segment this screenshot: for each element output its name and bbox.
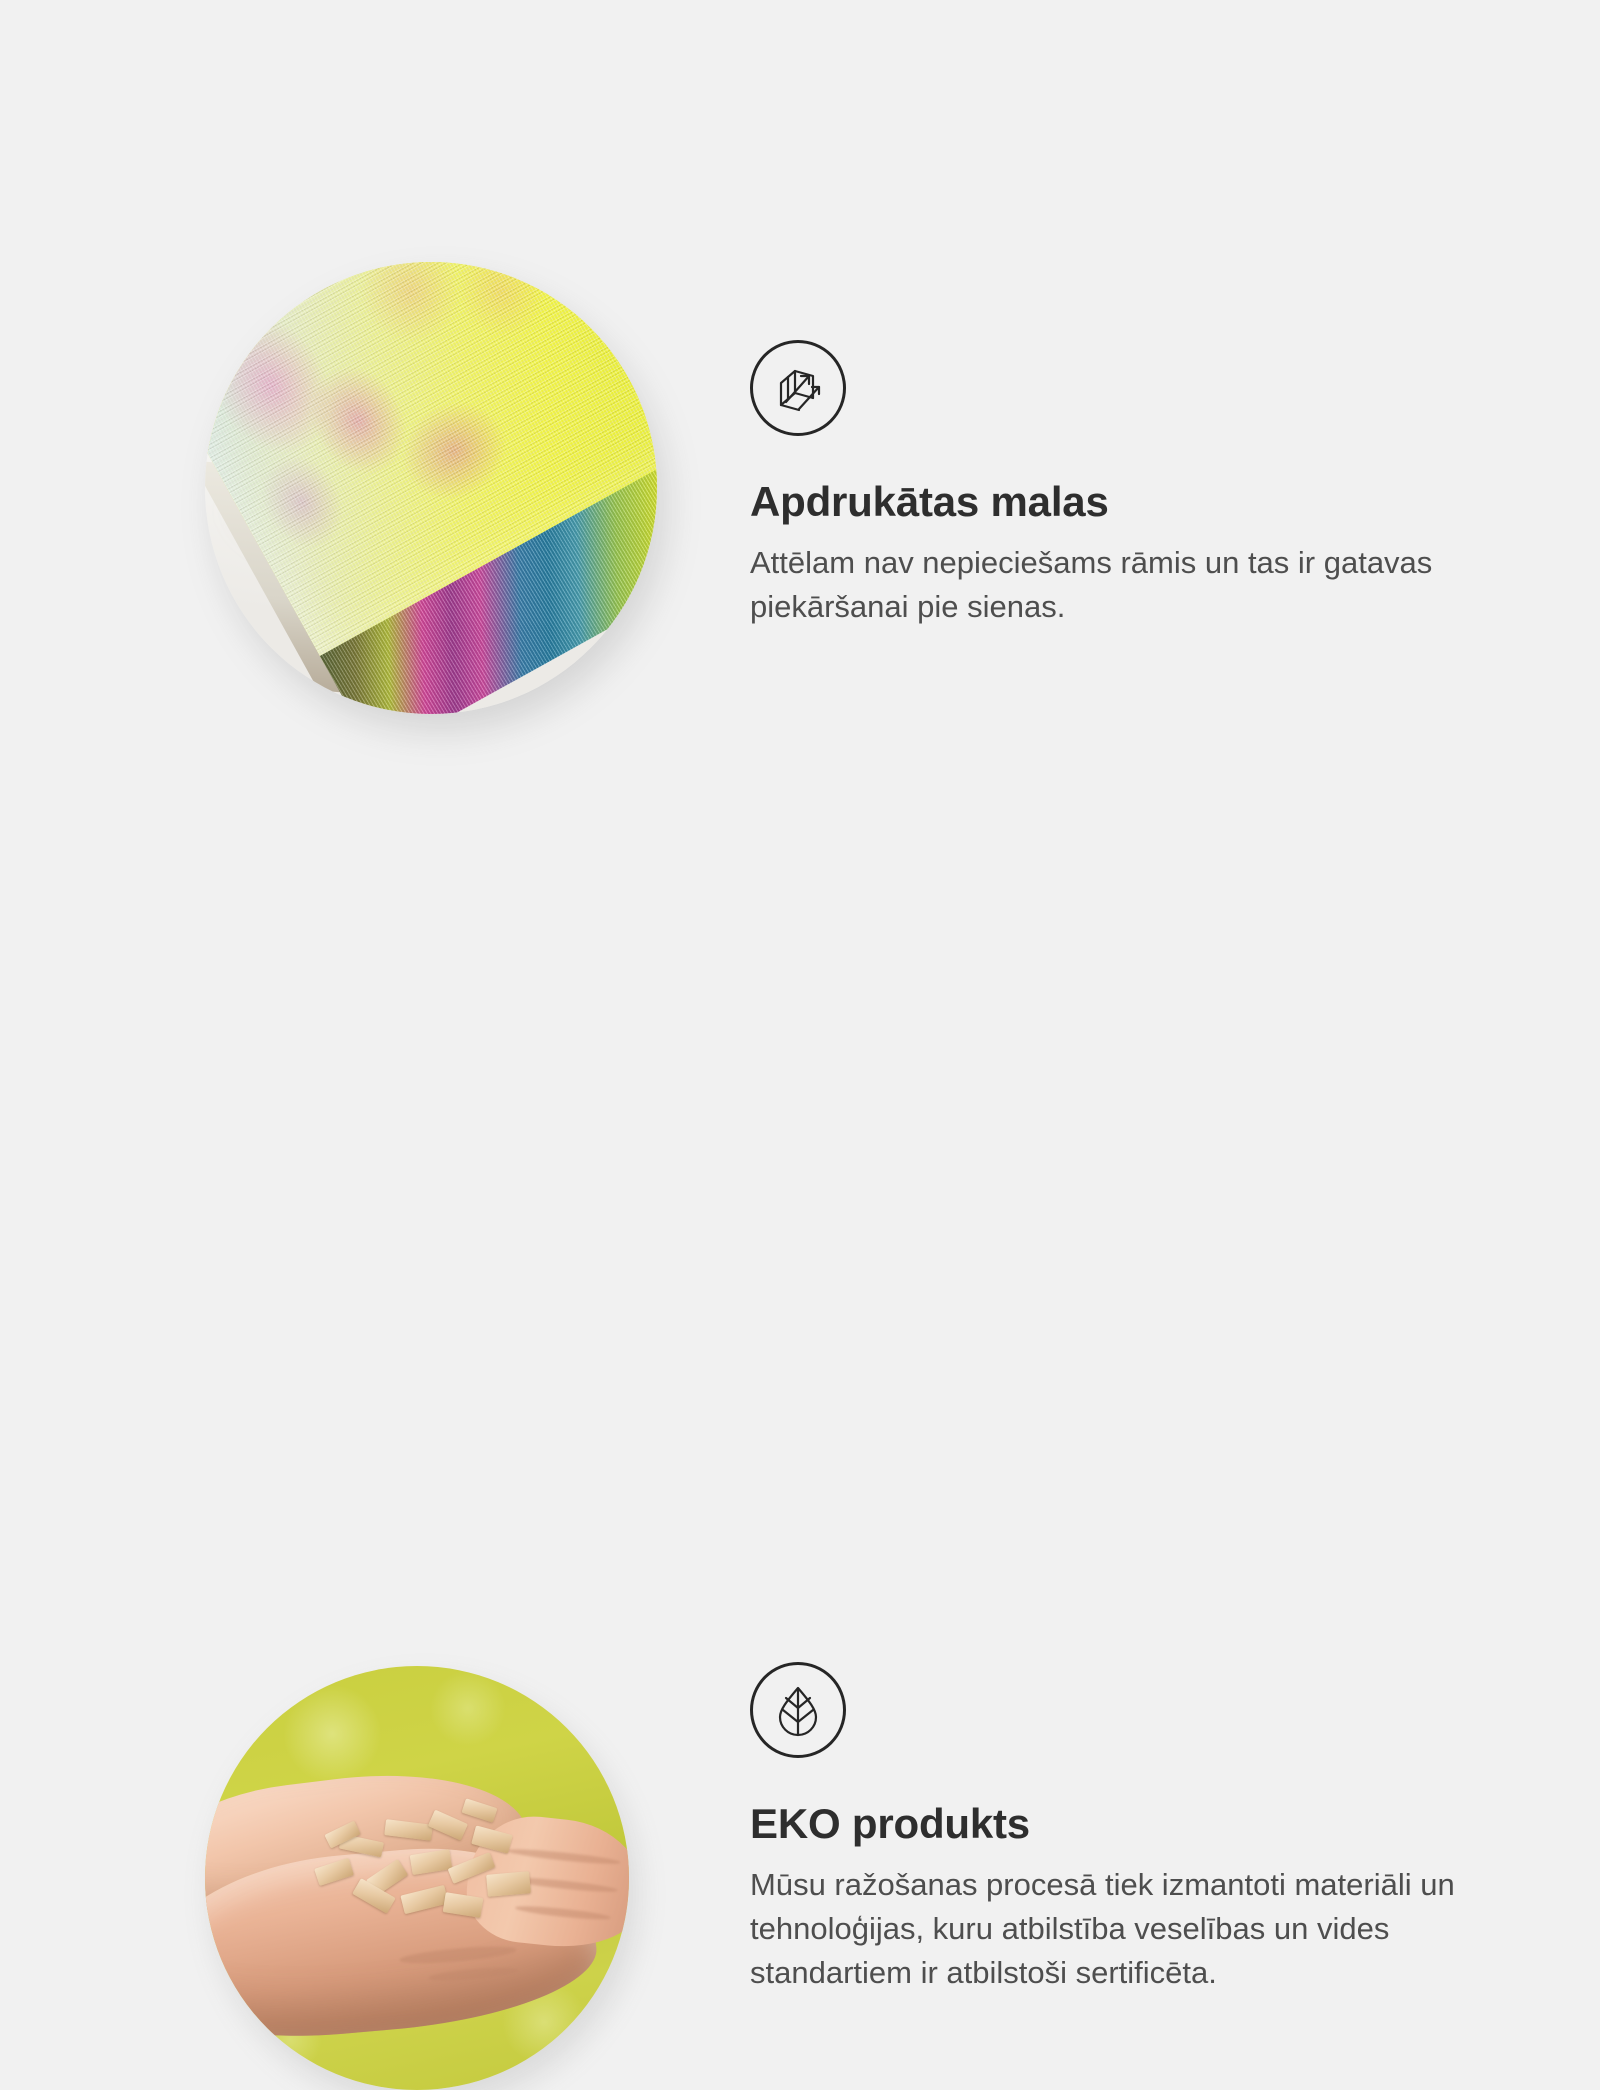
wrapped-edges-icon xyxy=(750,340,846,436)
feature-block-eco-product: EKO produkts Mūsu ražošanas procesā tiek… xyxy=(0,800,1600,1600)
wood-chip xyxy=(314,1857,353,1885)
feature-image-canvas-corner xyxy=(205,262,657,714)
finger-crease xyxy=(398,1943,515,1966)
wood-chip xyxy=(384,1819,433,1841)
wood-chip xyxy=(462,1798,498,1822)
wood-chip xyxy=(471,1825,513,1853)
feature-description: Attēlam nav nepieciešams rāmis un tas ir… xyxy=(750,541,1475,629)
feature-text-column-2: EKO produkts Mūsu ražošanas procesā tiek… xyxy=(750,1662,1490,1995)
canvas-corner-photo xyxy=(205,262,657,714)
wood-chip xyxy=(400,1885,448,1914)
finger-crease xyxy=(427,1965,517,1983)
wood-chip xyxy=(443,1892,484,1918)
feature-image-wood-chips xyxy=(205,1666,629,2090)
wood-chip xyxy=(486,1872,530,1897)
product-features-page: Apdrukātas malas Attēlam nav nepieciešam… xyxy=(0,0,1600,1600)
feature-text-column-1: Apdrukātas malas Attēlam nav nepieciešam… xyxy=(750,340,1490,629)
feature-block-printed-edges: Apdrukātas malas Attēlam nav nepieciešam… xyxy=(0,0,1600,800)
wood-chips-pile xyxy=(307,1797,544,1933)
leaf-icon xyxy=(750,1662,846,1758)
feature-title: Apdrukātas malas xyxy=(750,478,1490,525)
hands-holding-wood-chips-photo xyxy=(205,1666,629,2090)
feature-description: Mūsu ražošanas procesā tiek izmantoti ma… xyxy=(750,1863,1475,1995)
feature-title: EKO produkts xyxy=(750,1800,1490,1847)
wood-chip xyxy=(428,1810,468,1841)
wood-chip xyxy=(410,1849,453,1875)
